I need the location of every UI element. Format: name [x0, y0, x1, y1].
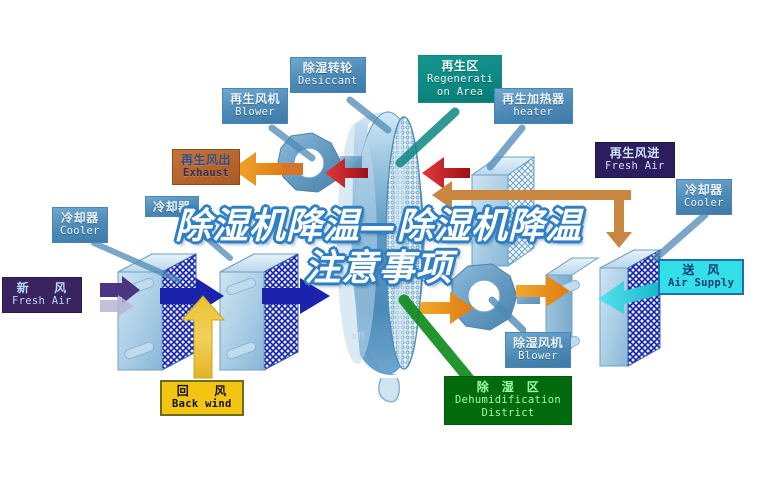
- callout-cooler-left-2[interactable]: 冷却器: [145, 196, 199, 217]
- callout-dehumidification-blower[interactable]: 除湿风机 Blower: [505, 332, 571, 368]
- callout-air-supply-cn: 送 风: [668, 263, 734, 277]
- callout-regen-heater-en: heater: [502, 106, 565, 118]
- callout-back-wind-en: Back wind: [172, 398, 232, 410]
- callout-regen-fresh-air-in[interactable]: 再生风进 Fresh Air: [595, 142, 675, 178]
- callout-regeneration-area-cn: 再生区: [427, 59, 493, 73]
- callout-cooler-left-en: Cooler: [60, 225, 100, 237]
- callout-regen-heater-cn: 再生加热器: [502, 92, 565, 106]
- callout-cooler-right[interactable]: 冷却器 Cooler: [676, 179, 732, 215]
- callout-regeneration-blower[interactable]: 再生风机 Blower: [222, 88, 288, 124]
- callout-fresh-air-in[interactable]: 新 风 Fresh Air: [2, 277, 82, 313]
- callout-dehumidification-district-en2: District: [455, 407, 561, 419]
- callout-fresh-air-in-cn: 新 风: [12, 281, 72, 295]
- callout-dehumidification-blower-en: Blower: [513, 350, 563, 362]
- callout-regen-fresh-air-in-cn: 再生风进: [605, 146, 665, 160]
- callout-cooler-right-en: Cooler: [684, 197, 724, 209]
- callout-air-supply[interactable]: 送 风 Air Supply: [658, 259, 744, 295]
- callout-back-wind[interactable]: 回 风 Back wind: [160, 380, 244, 416]
- callout-regen-fresh-air-in-en: Fresh Air: [605, 160, 665, 172]
- callout-desiccant-wheel-cn: 除湿转轮: [298, 61, 358, 75]
- regen-heater-unit: [472, 157, 534, 266]
- callout-regeneration-area-en2: on Area: [427, 86, 493, 98]
- callout-fresh-air-in-en: Fresh Air: [12, 295, 72, 307]
- callout-dehumidification-district[interactable]: 除 湿 区 Dehumidification District: [444, 376, 572, 425]
- callout-back-wind-cn: 回 风: [172, 384, 232, 398]
- callout-cooler-right-cn: 冷却器: [684, 183, 724, 197]
- callout-regeneration-blower-cn: 再生风机: [230, 92, 280, 106]
- callout-desiccant-wheel[interactable]: 除湿转轮 Desiccant: [290, 57, 366, 93]
- callout-regeneration-area-en1: Regenerati: [427, 73, 493, 85]
- callout-air-supply-en: Air Supply: [668, 277, 734, 289]
- callout-exhaust[interactable]: 再生风出 Exhaust: [172, 149, 240, 185]
- callout-dehumidification-district-cn: 除 湿 区: [455, 380, 561, 394]
- callout-regen-heater[interactable]: 再生加热器 heater: [494, 88, 573, 124]
- callout-cooler-left-cn: 冷却器: [60, 211, 100, 225]
- callout-cooler-left-2-cn: 冷却器: [153, 200, 191, 214]
- callout-cooler-left[interactable]: 冷却器 Cooler: [52, 207, 108, 243]
- cooler-unit-left-2: [220, 254, 298, 370]
- callout-regeneration-area[interactable]: 再生区 Regenerati on Area: [418, 55, 502, 103]
- cooler-unit-right: [600, 250, 660, 366]
- diagram-canvas: 除湿转轮 Desiccant 再生风机 Blower 再生区 Regenerat…: [0, 0, 757, 488]
- watermark-text: xff: [352, 331, 365, 342]
- callout-exhaust-cn: 再生风出: [181, 153, 231, 167]
- callout-dehumidification-blower-cn: 除湿风机: [513, 336, 563, 350]
- callout-desiccant-wheel-en: Desiccant: [298, 75, 358, 87]
- dehumidifier-schematic: [0, 0, 757, 488]
- regen-hot-air-arrow-right: [422, 157, 470, 189]
- callout-exhaust-en: Exhaust: [181, 167, 231, 179]
- callout-regeneration-blower-en: Blower: [230, 106, 280, 118]
- callout-dehumidification-district-en1: Dehumidification: [455, 394, 561, 406]
